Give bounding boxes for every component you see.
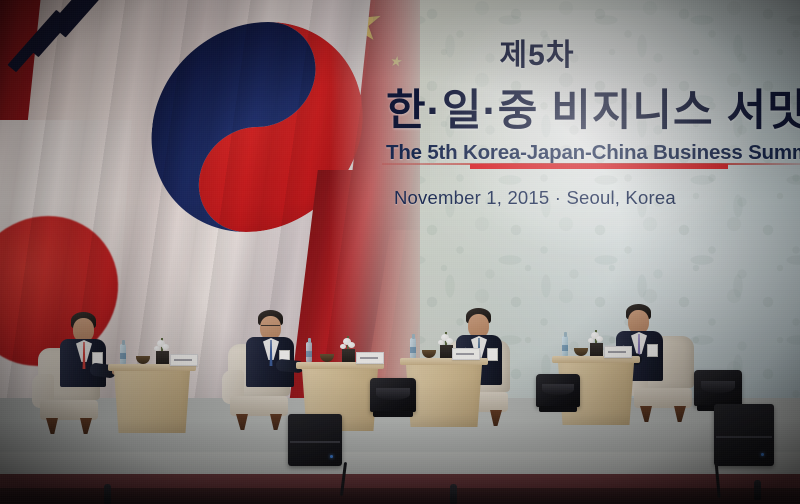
name-card-4 <box>604 346 632 358</box>
water-bottle-3 <box>410 338 416 358</box>
name-card-3 <box>452 348 480 360</box>
name-card-2 <box>356 352 384 364</box>
water-bottle-1 <box>120 344 126 364</box>
armchair-4-seat <box>634 388 692 408</box>
front-mic-1 <box>104 484 111 504</box>
banner-text-block: 제5차 한·일·중 비지니스 서밋 The 5th Korea-Japan-Ch… <box>386 30 800 209</box>
panelist-4-badge <box>647 344 658 357</box>
water-bottle-2 <box>306 342 312 362</box>
side-table-3-body <box>406 365 482 427</box>
panelist-3-badge <box>487 348 498 361</box>
banner-headline-korean: 한·일·중 비지니스 서밋 <box>386 76 800 138</box>
stage-monitor-1 <box>370 378 416 412</box>
summit-photo: ★ ★ ★ ★ ★ 제5차 한·일·중 <box>0 0 800 504</box>
stage-monitor-2 <box>536 374 580 407</box>
stage-monitor-3 <box>694 370 742 406</box>
panelist-2-glasses <box>261 325 280 329</box>
armchair-2-seat <box>230 396 288 416</box>
banner-dateline: November 1, 2015 · Seoul, Korea <box>386 187 800 209</box>
side-table-1-body <box>114 371 190 433</box>
stage-edge-trim <box>0 474 800 488</box>
subwoofer-1 <box>288 414 342 466</box>
front-mic-2 <box>450 484 457 504</box>
banner-headline-english: The 5th Korea-Japan-China Business Summi… <box>386 141 800 165</box>
water-bottle-4 <box>562 336 568 356</box>
front-mic-3 <box>754 480 761 500</box>
banner-ordinal: 제5차 <box>386 30 800 74</box>
banner-rule-thick <box>470 164 728 169</box>
subwoofer-2 <box>714 404 774 466</box>
name-card-1 <box>170 354 198 366</box>
stage-front-panel <box>0 488 800 504</box>
armchair-1-seat <box>40 400 98 420</box>
